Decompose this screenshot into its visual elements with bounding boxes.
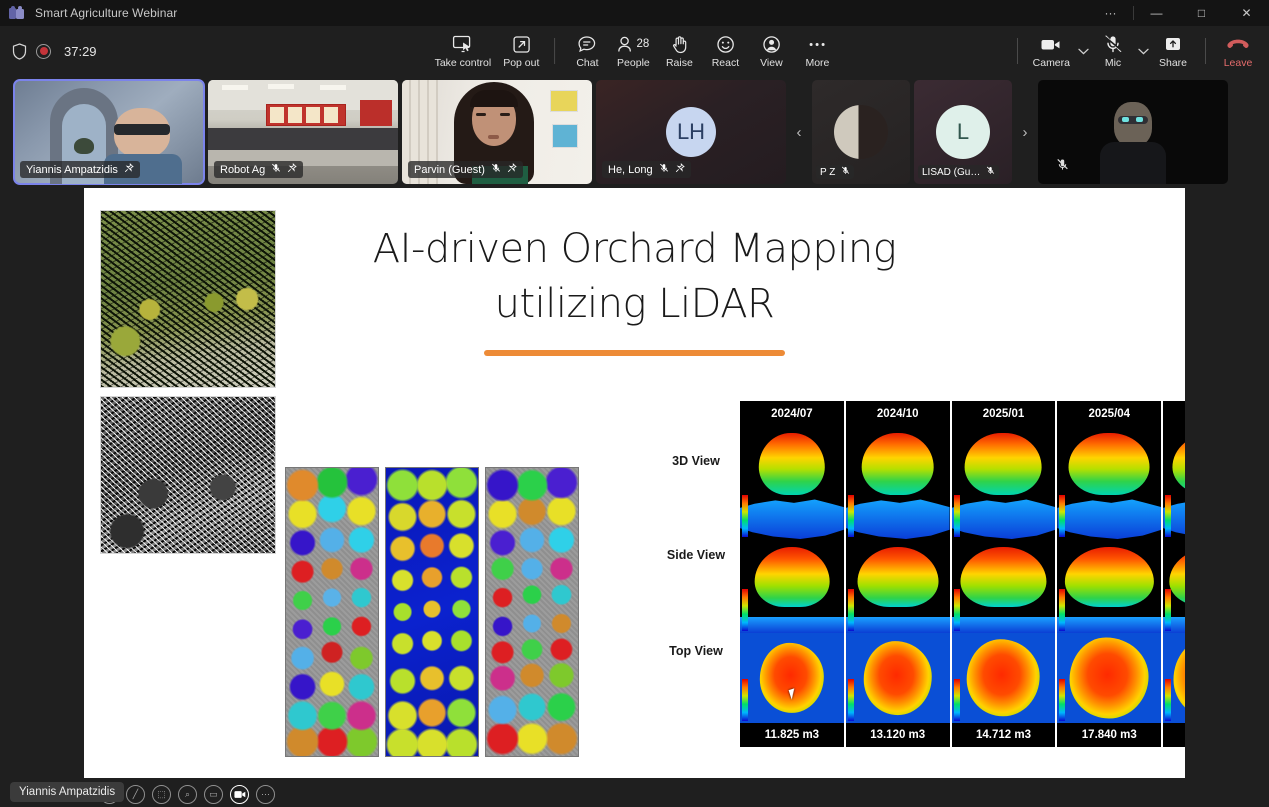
lidar-cell-top-view [952,633,1056,723]
lidar-volume-label: 14.712 m3 [952,723,1056,747]
tile-name-lisad: LISAD (Gu… [918,165,999,179]
lidar-cell-3d-view [1057,427,1161,539]
mic-muted-icon [1103,34,1123,55]
toolbar-divider-1 [554,38,555,64]
more-button[interactable]: More [794,28,840,74]
lidar-cell-top-view [1163,633,1185,723]
monitor-cursor-icon [452,34,473,55]
lidar-cell-3d-view [740,427,844,539]
leave-label: Leave [1224,57,1253,69]
mic-chevron-down-icon[interactable] [1136,28,1150,74]
chat-label: Chat [576,57,598,69]
lidar-comparison-grid: 3D View Side View Top View 2024/07 11.82… [654,401,1179,723]
lidar-date-header: 2025/01 [952,401,1056,427]
lidar-grid: 2024/07 11.825 m3 2024/10 [740,401,1185,723]
mic-muted-icon [1056,158,1069,176]
zoom-tool[interactable]: ⌕ [178,785,197,804]
shield-icon [12,43,27,60]
window-controls: ··· — □ ✕ [1088,0,1269,26]
lidar-cell-side-view [846,539,950,633]
pin-icon [287,163,297,176]
row-label-side-view: Side View [654,548,738,562]
lidar-column-2024-10: 2024/10 13.120 m3 [846,401,950,747]
camera-icon [1039,34,1063,55]
react-label: React [712,57,739,69]
maximize-button[interactable]: □ [1179,0,1224,26]
lidar-cell-side-view [952,539,1056,633]
pin-icon [124,163,134,176]
mic-muted-icon [271,163,281,176]
people-button[interactable]: 28 People [610,28,656,74]
lidar-volume-label: 13.120 m3 [846,723,950,747]
tile-name-he-long: He, Long [602,161,691,178]
bottom-bar: ▶ ╱ ⬚ ⌕ ▭ ⋯ Yiannis Ampatzidis [0,778,1269,807]
pin-icon [507,163,517,176]
pop-out-icon [512,34,531,55]
window-title: Smart Agriculture Webinar [35,6,177,20]
lidar-date-header: 2025/04 [1057,401,1161,427]
lidar-cell-3d-view [952,427,1056,539]
lidar-column-2024-07: 2024/07 11.825 m3 [740,401,844,747]
meeting-status-group: 37:29 [12,43,97,60]
ellipsis-icon [807,34,827,55]
participant-filmstrip: Yiannis Ampatzidis Robot Ag [14,80,1255,184]
tile-name-yiannis: Yiannis Ampatzidis [20,161,140,178]
mic-muted-icon [659,163,669,176]
lidar-column-2025-01: 2025/01 14.712 m3 [952,401,1056,747]
share-button[interactable]: Share [1150,28,1196,74]
record-icon[interactable] [36,44,51,59]
participant-tile-dark-video[interactable] [1038,80,1228,184]
person-circle-icon [762,34,781,55]
lidar-volume-label: 18.994 m3 [1163,723,1185,747]
participant-tile-yiannis-ampatzidis[interactable]: Yiannis Ampatzidis [14,80,204,184]
lidar-cell-top-view [846,633,950,723]
tile-name-robot-ag: Robot Ag [214,161,303,178]
more-tools[interactable]: ⋯ [256,785,275,804]
pop-out-label: Pop out [503,57,539,69]
close-button[interactable]: ✕ [1224,0,1269,26]
lidar-cell-top-view [740,633,844,723]
chat-bubble-icon [577,34,597,55]
row-label-3d-view: 3D View [654,454,738,468]
tile-label: LISAD (Gu… [922,167,980,178]
raised-hand-icon [671,34,688,55]
mic-muted-icon [491,163,501,176]
minimize-button[interactable]: — [1134,0,1179,26]
smiley-icon [716,34,735,55]
person-icon: 28 [618,34,650,55]
toolbar-right-group: Camera Mic Share Leave [1008,26,1261,76]
pop-out-button[interactable]: Pop out [497,28,545,74]
share-label: Share [1159,57,1187,69]
mic-button[interactable]: Mic [1090,28,1136,74]
tile-label: He, Long [608,164,653,176]
lidar-cell-top-view [1057,633,1161,723]
lidar-volume-label: 17.840 m3 [1057,723,1161,747]
filmstrip-prev-arrow[interactable]: ‹ [790,80,808,184]
canopy-segmentation-rgb-2-image [485,467,579,757]
leave-button[interactable]: Leave [1215,28,1261,74]
lidar-volume-label: 11.825 m3 [740,723,844,747]
avatar: LH [666,107,716,157]
citrus-intensity-pointcloud-image [100,396,276,554]
raise-label: Raise [666,57,693,69]
lidar-column-2025-04: 2025/04 17.840 m3 [1057,401,1161,747]
teams-icon [9,6,25,20]
pin-icon [675,163,685,176]
take-control-label: Take control [435,57,492,69]
chat-button[interactable]: Chat [564,28,610,74]
camera-capture-tool[interactable] [230,785,249,804]
mic-muted-icon [841,166,850,178]
participant-tile-pz[interactable]: P Z [812,80,910,184]
hang-up-icon [1226,34,1250,55]
toolbar-divider-2 [1017,38,1018,64]
annotation-toolbar: ▶ ╱ ⬚ ⌕ ▭ ⋯ [100,785,275,804]
canopy-segmentation-blue-image [385,467,479,757]
take-control-button[interactable]: Take control [429,28,498,74]
titlebar-more-button[interactable]: ··· [1088,0,1133,26]
window-titlebar: Smart Agriculture Webinar ··· — □ ✕ [0,0,1269,26]
tile-label: P Z [820,167,835,178]
tile-label: Yiannis Ampatzidis [26,164,118,176]
lidar-date-header: 2024/07 [740,401,844,427]
more-label: More [805,57,829,69]
lidar-column-2025-07: 2025/07 18.994 m3 [1163,401,1185,747]
lidar-date-header: 2025/07 [1163,401,1185,427]
filmstrip-next-arrow[interactable]: › [1016,80,1034,184]
mic-muted-icon [986,166,995,178]
people-count-badge: 28 [637,38,650,50]
participant-tile-he-long[interactable]: LH He, Long [596,80,786,184]
tile-label: Robot Ag [220,164,265,176]
stamp-tool[interactable]: ⬚ [152,785,171,804]
participant-tile-lisad[interactable]: L LISAD (Gu… [914,80,1012,184]
row-label-top-view: Top View [654,644,738,658]
mic-label: Mic [1105,57,1121,69]
meeting-timer: 37:29 [64,44,97,59]
view-button[interactable]: View [748,28,794,74]
toolbar-divider-3 [1205,38,1206,64]
lidar-cell-side-view [1163,539,1185,633]
share-up-arrow-icon [1162,34,1184,55]
lidar-date-header: 2024/10 [846,401,950,427]
canopy-segmentation-rgb-image [285,467,379,757]
lidar-cell-3d-view [846,427,950,539]
participant-tile-parvin-guest[interactable]: Parvin (Guest) [402,80,592,184]
tile-name-pz: P Z [816,165,854,179]
people-label: People [617,57,650,69]
meeting-toolbar: 37:29 Take control Pop out Chat 28 [0,26,1269,76]
avatar: L [936,105,990,159]
view-label: View [760,57,783,69]
tile-label: Parvin (Guest) [414,164,485,176]
react-button[interactable]: React [702,28,748,74]
active-speaker-toast: Yiannis Ampatzidis [10,782,124,802]
raise-hand-button[interactable]: Raise [656,28,702,74]
avatar [834,105,888,159]
participant-tile-robot-ag[interactable]: Robot Ag [208,80,398,184]
lidar-cell-3d-view [1163,427,1185,539]
camera-button[interactable]: Camera [1027,28,1076,74]
lidar-cell-side-view [740,539,844,633]
title-underline-accent [484,350,785,356]
tile-name-parvin: Parvin (Guest) [408,161,523,178]
lidar-cell-side-view [1057,539,1161,633]
toolbar-center-group: Take control Pop out Chat 28 People [429,26,841,76]
text-tool[interactable]: ▭ [204,785,223,804]
citrus-rgb-pointcloud-image [100,210,276,388]
pen-tool[interactable]: ╱ [126,785,145,804]
camera-chevron-down-icon[interactable] [1076,28,1090,74]
camera-label: Camera [1033,57,1070,69]
shared-content-slide[interactable]: AI-driven Orchard Mapping utilizing LiDA… [84,188,1185,778]
